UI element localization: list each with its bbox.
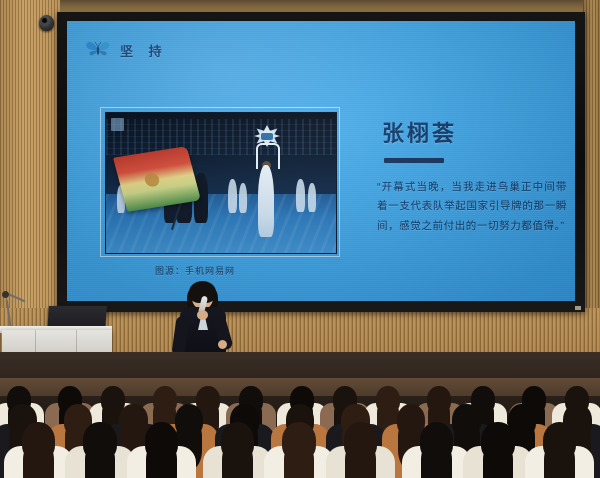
audience-member-hair (146, 443, 177, 478)
speaker-hand (218, 340, 227, 349)
dome-camera-icon (39, 15, 54, 31)
slide-photo-frame (100, 107, 340, 257)
wall-left-panel (0, 0, 60, 330)
audience-area (0, 352, 600, 478)
broadcast-watermark-icon (111, 118, 124, 131)
audience-member-hair (345, 443, 376, 478)
audience-member-hair (284, 443, 315, 478)
slide-quote: “开幕式当晚，当我走进鸟巢正中间带着一支代表队举起国家引导牌的那一瞬间，感觉之前… (377, 178, 567, 236)
slide-header: 坚 持 (85, 39, 168, 61)
audience-member-hair (483, 443, 514, 478)
title-underline (384, 158, 444, 163)
speaker-mic-hand (197, 310, 208, 320)
photo-caption: 图源：手机网易网 (155, 264, 235, 277)
ceremony-figure (296, 179, 305, 212)
arena-crowd (106, 119, 336, 155)
gooseneck-microphone-icon (2, 291, 9, 298)
audience-member-hair (544, 443, 575, 478)
ceremony-figure (308, 183, 316, 212)
projection-screen: 坚 持 (57, 12, 585, 312)
audience-member-hair (222, 443, 253, 478)
ceremony-photo (105, 112, 337, 254)
presentation-photo-scene: 坚 持 (0, 0, 600, 478)
presentation-slide: 坚 持 (67, 21, 575, 301)
wall-right-panel (583, 0, 600, 330)
butterfly-icon (85, 39, 111, 61)
ceremony-figure (228, 179, 237, 213)
ceremony-figure (239, 183, 247, 213)
country-placard-label (261, 133, 273, 140)
national-flag (113, 146, 201, 212)
audience-member-hair (421, 443, 452, 478)
flag-bearer-figure (258, 165, 274, 237)
slide-title: 张栩荟 (382, 116, 457, 148)
slide-header-label: 坚 持 (120, 41, 168, 60)
audience-member-hair (85, 443, 116, 478)
audience-member-hair (23, 443, 54, 478)
